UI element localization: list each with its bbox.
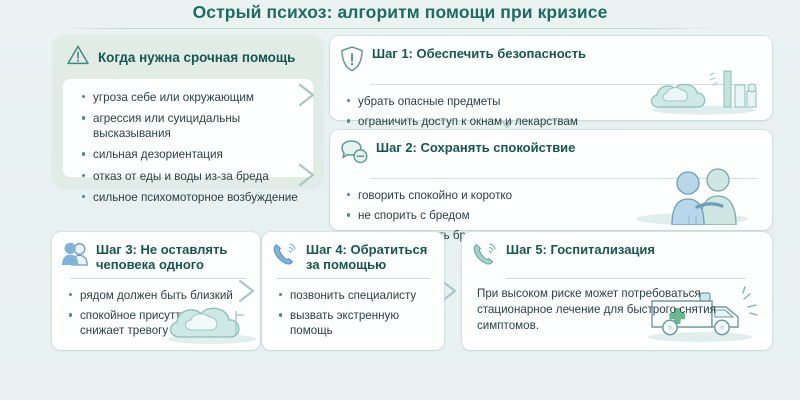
phone-call-icon	[471, 241, 499, 272]
phone-call-icon	[271, 241, 299, 272]
step-card-step4: Шаг 4: Обратиться за помощью позвонить с…	[262, 232, 444, 350]
step3-title: Шаг 3: Не оставлять чеповека одного	[96, 240, 250, 272]
step2-header: Шаг 2: Сохранять спокойствие	[330, 130, 772, 172]
title-divider	[56, 28, 716, 29]
list-item: агрессия или суицидальны высказывания	[93, 108, 303, 144]
list-item: рядом должен быть близкий	[80, 285, 248, 305]
arrow-warning-to-step1	[296, 82, 326, 113]
step1-title: Шаг 1: Обеспечить безопасность	[372, 44, 586, 61]
step2-title: Шаг 2: Сохранять спокойствие	[376, 138, 575, 155]
step3-list: рядом должен быть близкий спокойное прис…	[52, 279, 260, 340]
step-card-step2: Шаг 2: Сохранять спокойствие говорить сп…	[330, 130, 772, 230]
list-item: позвонить специалисту	[290, 285, 432, 305]
arrow-warning-to-step2	[296, 162, 326, 193]
list-item: ограничить доступ к окнам и лекарствам	[358, 111, 760, 131]
step-card-step5: Шаг 5: Госпитализация При высоком риске …	[462, 232, 772, 350]
page-title: Острый психоз: алгоритм помощи при кризи…	[0, 2, 800, 23]
step3-header: Шаг 3: Не оставлять чеповека одного	[52, 232, 260, 272]
infographic-canvas: Острый психоз: алгоритм помощи при кризи…	[0, 0, 800, 400]
warning-card-header: Когда нужна срочная помощь	[54, 36, 322, 77]
warning-triangle-icon	[66, 44, 90, 71]
list-item: спокойное присутттвие снижает тревогу	[80, 305, 248, 340]
warning-card: Когда нужна срочная помощь угроза себе и…	[54, 36, 322, 186]
two-persons-icon	[61, 241, 89, 272]
list-item: говорить спокойно и коротко	[358, 185, 760, 205]
warning-list: угроза себе или окружающим агрессия или …	[63, 79, 313, 208]
warning-card-body: угроза себе или окружающим агрессия или …	[63, 79, 313, 177]
list-item: вызвать экстренную помощь	[290, 305, 432, 340]
list-item: отказ от еды и воды из-за бреда	[93, 166, 303, 187]
step5-title: Шаг 5: Госпитализация	[506, 240, 655, 257]
step5-paragraph: При высоком риске может потребоваться ст…	[462, 279, 772, 334]
step-card-step1: Шаг 1: Обеспечить безопасность убрать оп…	[330, 36, 772, 120]
list-item: сильное психомоторное возбуждение	[93, 187, 303, 208]
step-card-step3: Шаг 3: Не оставлять чеповека одного рядо…	[52, 232, 260, 350]
list-item: не спорить с бредом	[358, 205, 760, 225]
list-item: угроза себе или окружающим	[93, 87, 303, 108]
speech-bubbles-icon	[339, 139, 369, 172]
step4-list: позвонить специалисту вызвать экстренную…	[262, 279, 444, 340]
step4-header: Шаг 4: Обратиться за помощью	[262, 232, 444, 272]
list-item: сильная дезориентация	[93, 144, 303, 165]
step4-title: Шаг 4: Обратиться за помощью	[306, 240, 434, 272]
list-item: убрать опасные предметы	[358, 91, 760, 111]
step5-header: Шаг 5: Госпитализация	[462, 232, 772, 272]
warning-card-title: Когда нужна срочная помощь	[98, 50, 295, 65]
step1-list: убрать опасные предметы ограничить досту…	[330, 85, 772, 131]
step1-header: Шаг 1: Обеспечить безопасность	[330, 36, 772, 78]
shield-exclamation-icon	[339, 45, 365, 78]
